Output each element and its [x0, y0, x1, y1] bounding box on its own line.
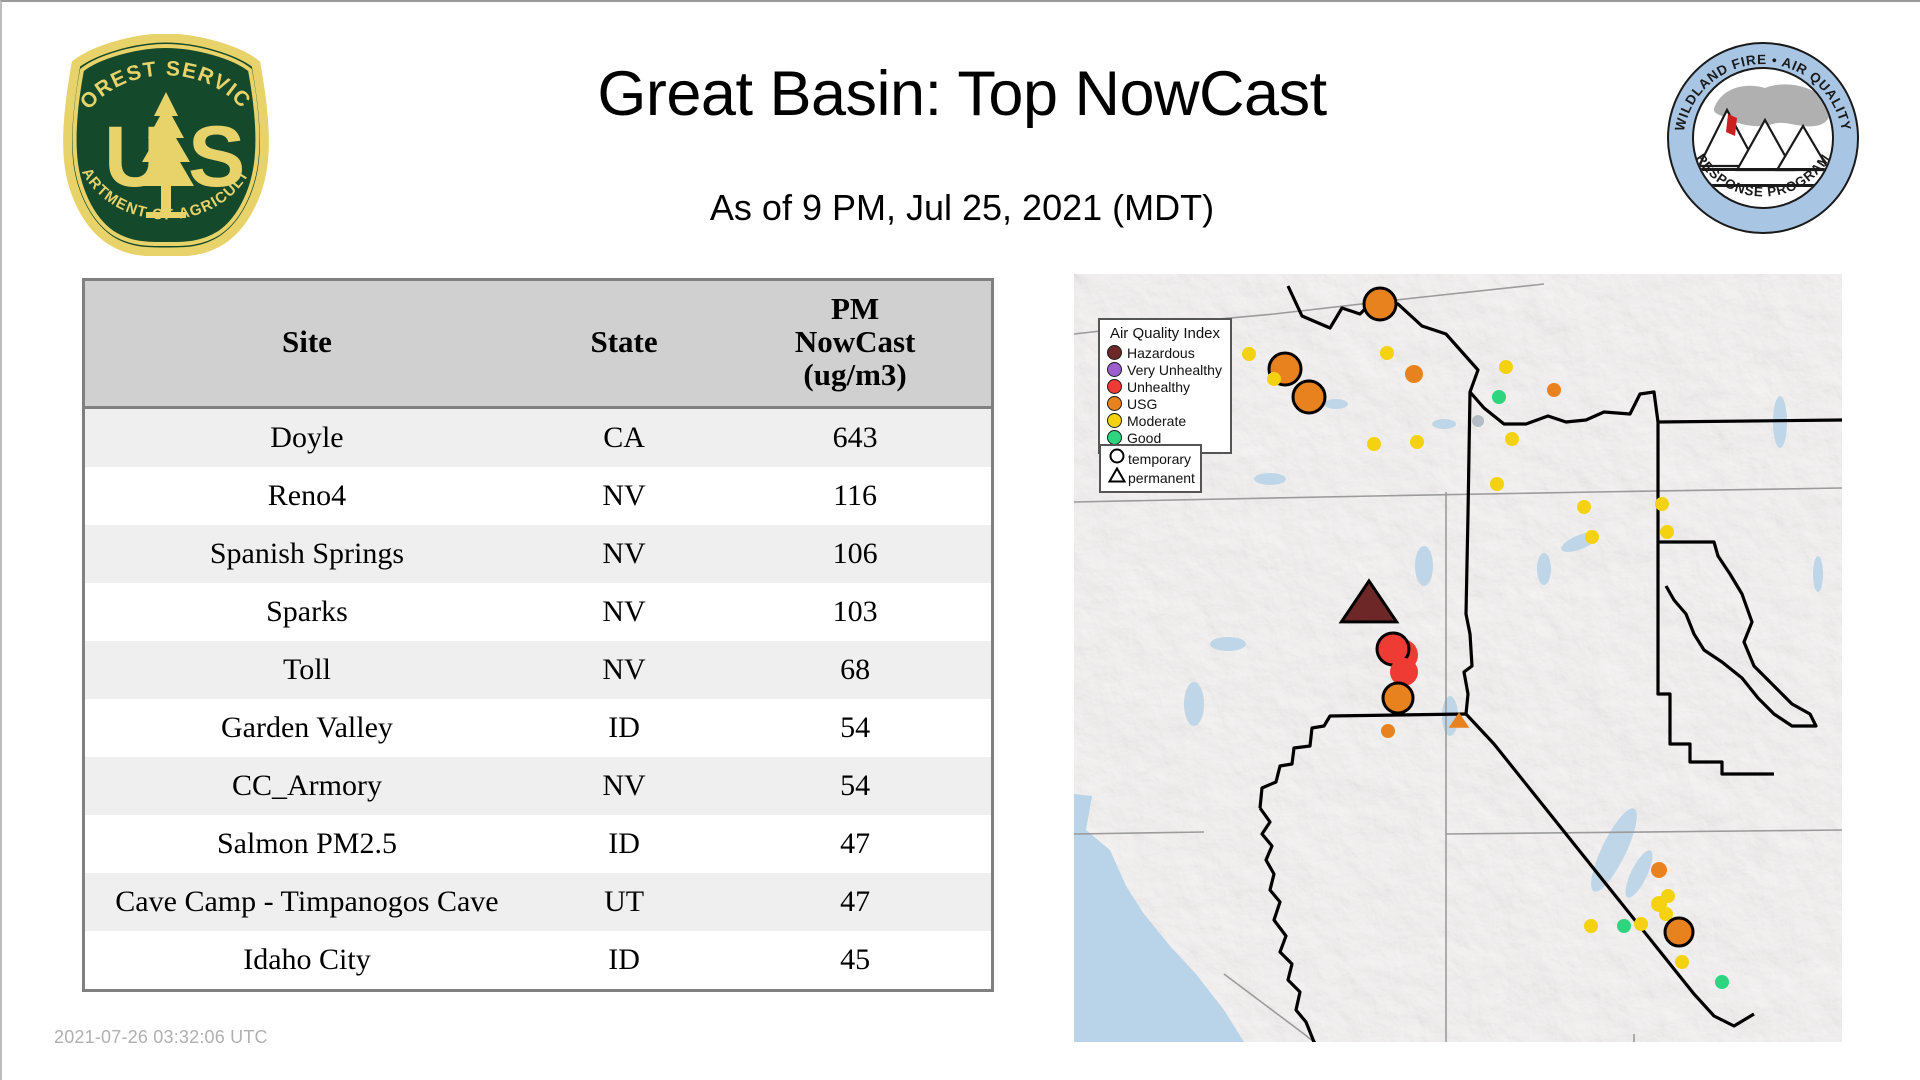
legend-swatch-icon	[1107, 413, 1122, 428]
legend-item: Unhealthy	[1107, 378, 1223, 395]
legend-item-label: Moderate	[1127, 414, 1186, 428]
legend-site-type: temporary permanent	[1099, 444, 1202, 493]
legend-item: USG	[1107, 395, 1223, 412]
table-row: Reno4NV116	[85, 467, 991, 525]
flame-marker-icon	[1726, 114, 1737, 136]
usfs-shield-logo: FOREST SERVICE U S DEPARTMENT OF AGRICUL…	[60, 34, 272, 256]
map-marker-temporary[interactable]	[1584, 919, 1598, 933]
state-cell: ID	[529, 931, 719, 989]
table-row: TollNV68	[85, 641, 991, 699]
value-cell: 106	[719, 525, 991, 583]
table-row: SparksNV103	[85, 583, 991, 641]
site-cell: Reno4	[85, 467, 529, 525]
value-cell: 116	[719, 467, 991, 525]
state-cell: NV	[529, 525, 719, 583]
legend-swatch-icon	[1107, 396, 1122, 411]
wfaqrp-logo: WILDLAND FIRE • AIR QUALITY RESPONSE PRO…	[1665, 40, 1861, 236]
legend-permanent-row: permanent	[1106, 468, 1195, 487]
map-marker-temporary[interactable]	[1364, 288, 1396, 320]
legend-swatch-icon	[1107, 345, 1122, 360]
legend-permanent-label: permanent	[1128, 471, 1195, 485]
site-cell: Idaho City	[85, 931, 529, 989]
table-row: Garden ValleyID54	[85, 699, 991, 757]
page-title: Great Basin: Top NowCast	[332, 58, 1592, 130]
legend-swatch-icon	[1107, 362, 1122, 377]
state-cell: UT	[529, 873, 719, 931]
state-cell: ID	[529, 815, 719, 873]
map-marker-temporary[interactable]	[1577, 500, 1591, 514]
map-marker-temporary[interactable]	[1380, 346, 1394, 360]
map-marker-temporary[interactable]	[1547, 383, 1561, 397]
legend-temporary-label: temporary	[1128, 452, 1191, 466]
map-marker-temporary[interactable]	[1381, 724, 1395, 738]
site-cell: Toll	[85, 641, 529, 699]
state-cell: NV	[529, 757, 719, 815]
value-cell: 47	[719, 815, 991, 873]
map-marker-temporary[interactable]	[1617, 919, 1631, 933]
map-marker-temporary[interactable]	[1472, 415, 1484, 427]
value-cell: 54	[719, 757, 991, 815]
value-cell: 643	[719, 407, 991, 467]
legend-air-quality-index: Air Quality Index HazardousVery Unhealth…	[1098, 318, 1232, 454]
map-marker-temporary[interactable]	[1242, 347, 1256, 361]
legend-item: Very Unhealthy	[1107, 361, 1223, 378]
column-header-site: Site	[85, 281, 529, 407]
legend-item-label: Hazardous	[1127, 346, 1195, 360]
state-cell: ID	[529, 699, 719, 757]
column-header-pm-line1: PM	[831, 291, 879, 326]
site-cell: Salmon PM2.5	[85, 815, 529, 873]
map-marker-temporary[interactable]	[1660, 525, 1674, 539]
top-nowcast-table: Site State PM NowCast (ug/m3) DoyleCA643…	[82, 278, 994, 992]
generation-timestamp: 2021-07-26 03:32:06 UTC	[54, 1027, 268, 1048]
legend-title: Air Quality Index	[1107, 325, 1223, 342]
legend-item-label: Good	[1127, 431, 1161, 445]
table-row: Cave Camp - Timpanogos CaveUT47	[85, 873, 991, 931]
map-marker-temporary[interactable]	[1390, 658, 1418, 686]
value-cell: 103	[719, 583, 991, 641]
value-cell: 45	[719, 931, 991, 989]
legend-swatch-icon	[1107, 379, 1122, 394]
column-header-pm-nowcast: PM NowCast (ug/m3)	[719, 281, 991, 407]
table-row: CC_ArmoryNV54	[85, 757, 991, 815]
map-marker-temporary[interactable]	[1293, 381, 1325, 413]
state-cell: NV	[529, 583, 719, 641]
map-marker-temporary[interactable]	[1405, 365, 1423, 383]
site-cell: Doyle	[85, 407, 529, 467]
site-cell: Garden Valley	[85, 699, 529, 757]
column-header-pm-line3: (ug/m3)	[803, 357, 906, 392]
page-subtitle: As of 9 PM, Jul 25, 2021 (MDT)	[332, 187, 1592, 229]
value-cell: 54	[719, 699, 991, 757]
column-header-state: State	[529, 281, 719, 407]
table-header-row: Site State PM NowCast (ug/m3)	[85, 281, 991, 407]
state-cell: CA	[529, 407, 719, 467]
column-header-pm-line2: NowCast	[795, 324, 916, 359]
map-marker-temporary[interactable]	[1655, 497, 1669, 511]
state-cell: NV	[529, 467, 719, 525]
map-marker-temporary[interactable]	[1585, 530, 1599, 544]
table-row: Idaho CityID45	[85, 931, 991, 989]
legend-item: Hazardous	[1107, 344, 1223, 361]
site-cell: Spanish Springs	[85, 525, 529, 583]
slide-page: FOREST SERVICE U S DEPARTMENT OF AGRICUL…	[0, 0, 1920, 1080]
air-quality-map[interactable]: Air Quality Index HazardousVery Unhealth…	[1074, 274, 1842, 1042]
legend-item-label: Very Unhealthy	[1127, 363, 1222, 377]
map-marker-temporary[interactable]	[1505, 432, 1519, 446]
map-marker-temporary[interactable]	[1492, 390, 1506, 404]
map-marker-temporary[interactable]	[1665, 918, 1693, 946]
map-marker-temporary[interactable]	[1367, 437, 1381, 451]
legend-item: Moderate	[1107, 412, 1223, 429]
legend-swatch-icon	[1107, 430, 1122, 445]
table-row: Salmon PM2.5ID47	[85, 815, 991, 873]
site-cell: Sparks	[85, 583, 529, 641]
site-cell: CC_Armory	[85, 757, 529, 815]
value-cell: 47	[719, 873, 991, 931]
legend-item-label: USG	[1127, 397, 1157, 411]
map-marker-temporary[interactable]	[1267, 372, 1281, 386]
legend-item-label: Unhealthy	[1127, 380, 1190, 394]
value-cell: 68	[719, 641, 991, 699]
map-marker-temporary[interactable]	[1675, 955, 1689, 969]
triangle-icon	[1106, 466, 1128, 489]
map-marker-temporary[interactable]	[1490, 477, 1504, 491]
map-marker-temporary[interactable]	[1715, 975, 1729, 989]
map-marker-temporary[interactable]	[1383, 683, 1413, 713]
state-cell: NV	[529, 641, 719, 699]
map-marker-temporary[interactable]	[1410, 435, 1424, 449]
table-row: Spanish SpringsNV106	[85, 525, 991, 583]
map-marker-temporary[interactable]	[1651, 862, 1667, 878]
site-cell: Cave Camp - Timpanogos Cave	[85, 873, 529, 931]
map-marker-temporary[interactable]	[1499, 360, 1513, 374]
map-marker-temporary[interactable]	[1634, 917, 1648, 931]
table-row: DoyleCA643	[85, 407, 991, 467]
